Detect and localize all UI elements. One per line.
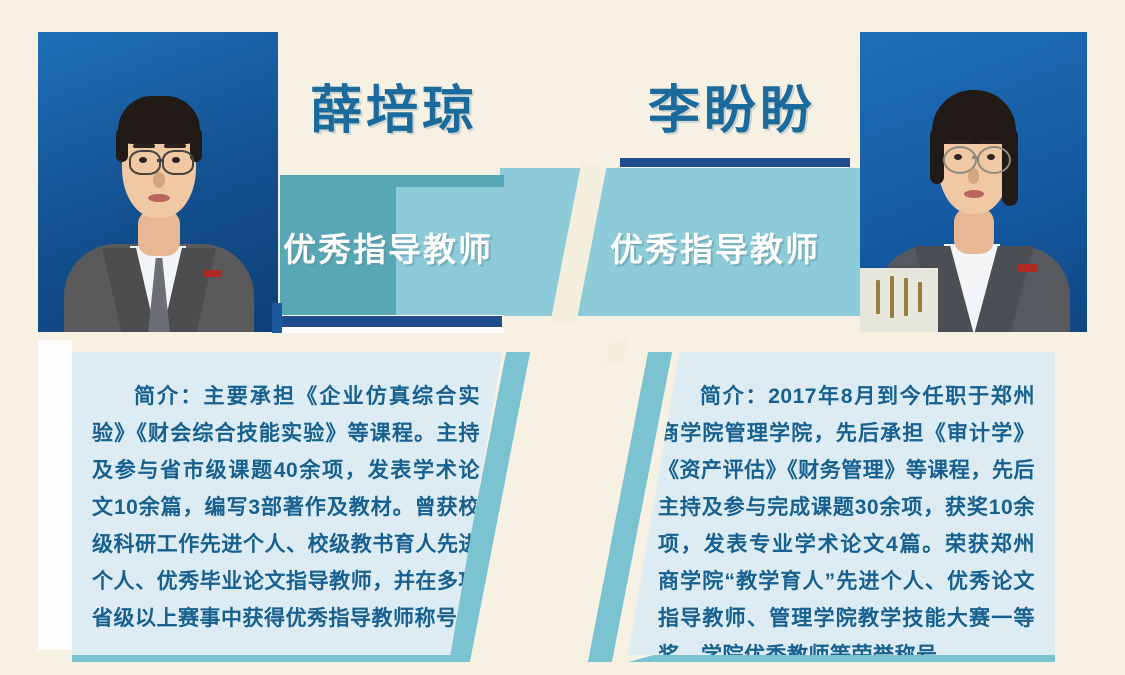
eye-left	[954, 154, 962, 160]
eye-right	[172, 157, 180, 163]
eyebrow-left	[948, 140, 970, 144]
name-underline-right	[620, 158, 850, 167]
ribbon-underline-white-2	[280, 327, 504, 333]
nose	[153, 172, 165, 188]
sideburn-left	[116, 128, 128, 162]
certificate	[860, 268, 938, 332]
bio-panel-right: 简介：2017年8月到今任职于郑州商学院管理学院，先后承担《审计学》《资产评估》…	[628, 352, 1055, 655]
ribbon-navy-tab	[272, 303, 282, 333]
hair	[118, 96, 200, 144]
certificate-text-line	[904, 278, 908, 316]
bio-panel-left: 简介：主要承担《企业仿真综合实验》《财会综合技能实验》等课程。主持及参与省市级课…	[72, 352, 502, 655]
certificate-text-line	[876, 280, 880, 314]
bio-text-left: 简介：主要承担《企业仿真综合实验》《财会综合技能实验》等课程。主持及参与省市级课…	[92, 378, 480, 637]
award-label-right: 优秀指导教师	[610, 223, 820, 271]
eyeglasses-bridge	[972, 156, 978, 159]
eyebrow-left	[133, 144, 155, 148]
award-label-left: 优秀指导教师	[283, 223, 493, 271]
eyeglasses-right-lens	[977, 146, 1011, 174]
bio-text-right: 简介：2017年8月到今任职于郑州商学院管理学院，先后承担《审计学》《资产评估》…	[658, 378, 1035, 674]
eyebrow-right	[979, 140, 1001, 144]
mouth	[964, 190, 984, 198]
eyeglasses-bridge	[157, 159, 162, 162]
teacher-photo-right	[860, 32, 1087, 332]
lapel-pin	[204, 270, 222, 277]
nose	[968, 168, 979, 184]
neck	[954, 208, 994, 254]
eye-right	[987, 154, 995, 160]
eyebrow-right	[164, 144, 186, 148]
frame-right	[1087, 0, 1125, 675]
ribbon-underline-navy	[280, 316, 502, 327]
frame-bottom	[0, 662, 1125, 675]
frame-left	[0, 0, 38, 675]
left-page-margin	[38, 340, 72, 650]
teacher-name-right: 李盼盼	[648, 68, 816, 143]
hair-side-left	[930, 128, 944, 184]
lapel-pin	[1018, 264, 1038, 272]
frame-top	[0, 0, 1125, 32]
mouth	[148, 194, 170, 202]
certificate-text-line	[890, 276, 894, 318]
certificate-text-line	[918, 282, 922, 312]
teacher-photo-left	[38, 32, 278, 332]
eye-left	[139, 157, 147, 163]
poster-canvas: 薛培琼 李盼盼 优秀指导教师 优秀指导教师 简介：主要承担《企业仿真综合实验》《…	[0, 0, 1125, 675]
teacher-name-left: 薛培琼	[310, 68, 478, 143]
